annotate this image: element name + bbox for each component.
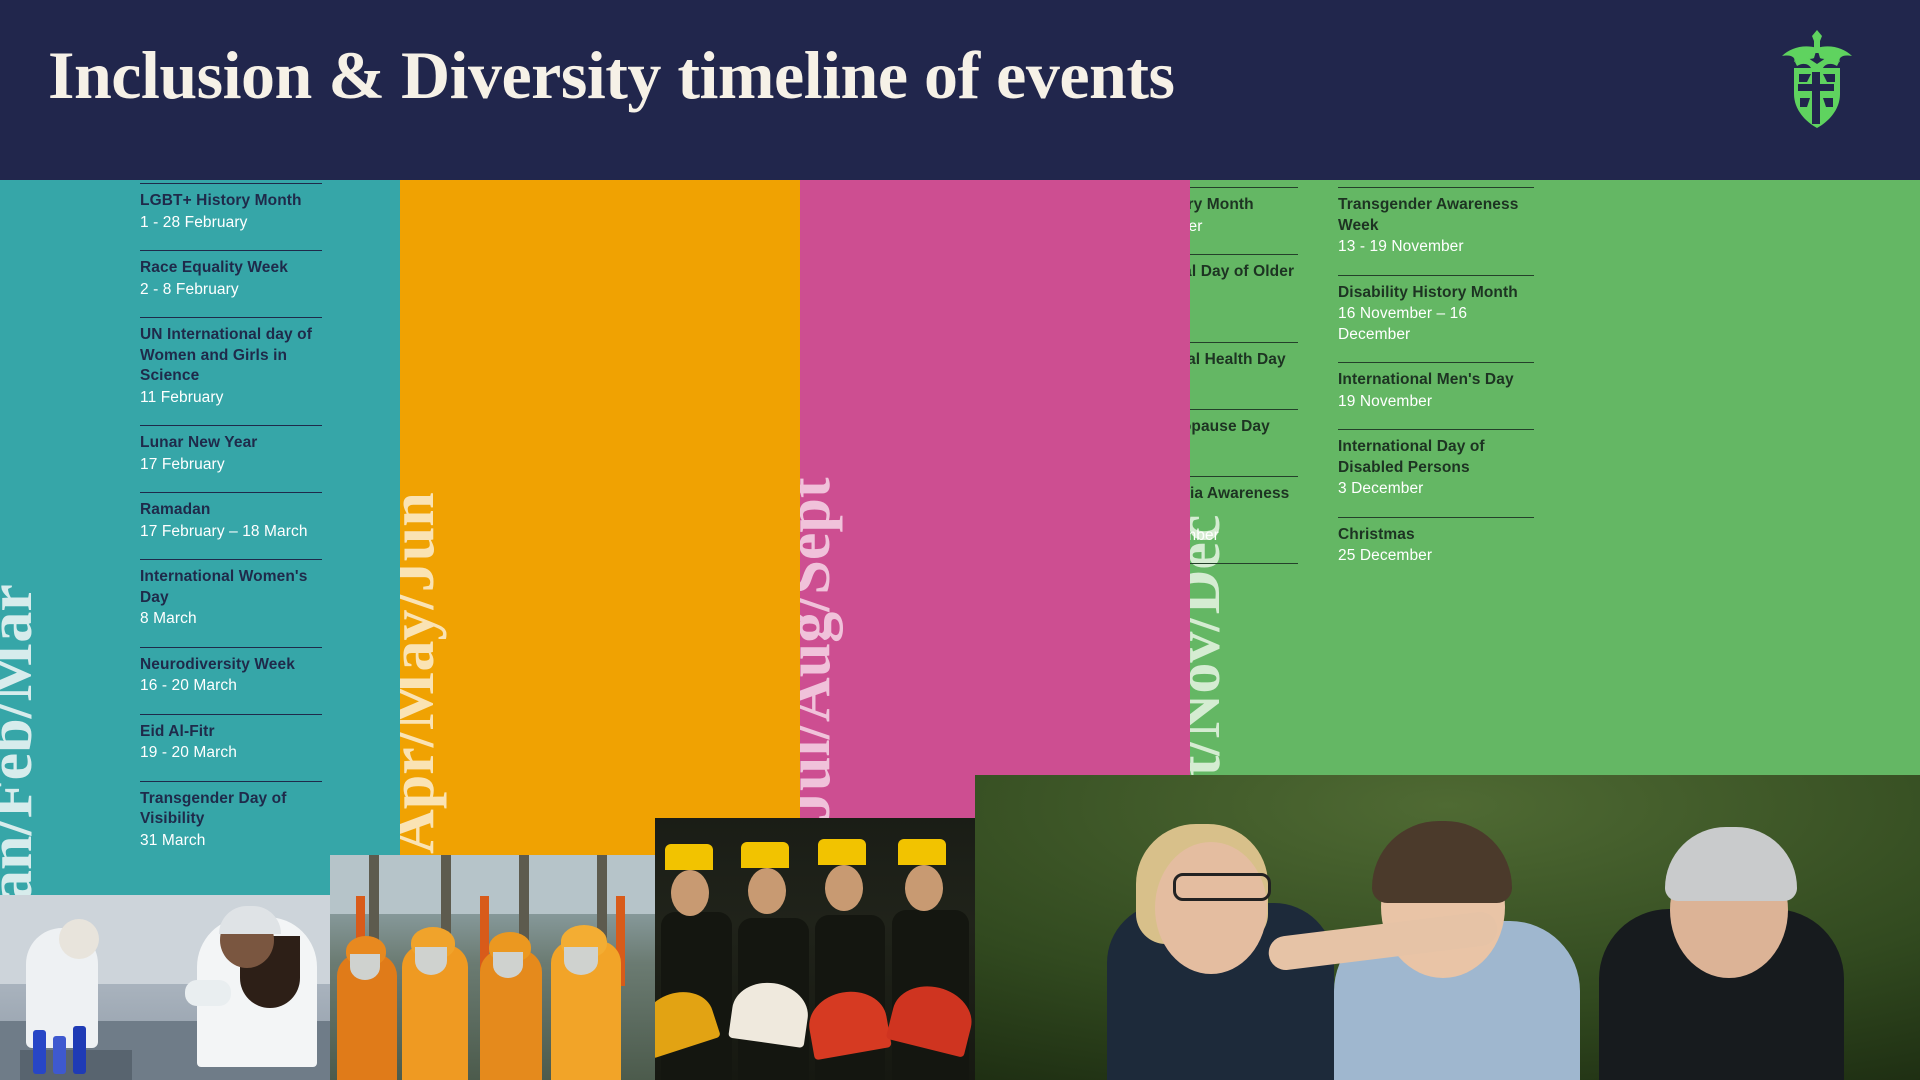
event-date: 10 October — [1190, 371, 1298, 392]
timeline-poster: Inclusion & Diversity timeline of events — [0, 0, 1920, 1080]
event-list-q4-left: Black History Month 1 - 31 October Inter… — [1190, 187, 1298, 613]
event-date: 17 February – 18 March — [140, 522, 322, 543]
event-date: 18 October — [1190, 438, 1298, 459]
divider — [1190, 342, 1298, 343]
quarter-label-q2: Apr/May/Jun — [400, 492, 444, 854]
event-date: 31 March — [140, 831, 322, 852]
event-list-q4-right: Transgender Awareness Week 13 - 19 Novem… — [1338, 187, 1534, 567]
divider — [140, 714, 322, 715]
event-name: International Day of Disabled Persons — [1338, 437, 1534, 478]
event-name: Neurodiversity Week — [140, 655, 322, 676]
event-name: International Women's Day — [140, 567, 322, 608]
divider — [1190, 254, 1298, 255]
divider — [140, 183, 322, 184]
event-name: LGBT+ History Month — [140, 191, 322, 212]
event-name: Transgender Day of Visibility — [140, 789, 322, 830]
divider — [1190, 187, 1298, 188]
heraldic-crest-logo — [1774, 26, 1860, 136]
event-item[interactable]: Lunar New Year 17 February — [140, 425, 322, 475]
divider — [140, 492, 322, 493]
event-date: 2 - 8 February — [140, 280, 322, 301]
event-item[interactable]: International Day of Older People 1 Octo… — [1190, 254, 1298, 325]
divider — [1338, 362, 1534, 363]
photo-q1-laboratory — [0, 895, 330, 1080]
divider — [140, 559, 322, 560]
event-list-q1: LGBT+ History Month 1 - 28 February Race… — [140, 183, 322, 851]
event-name: Disability History Month — [1338, 283, 1534, 304]
divider — [1190, 409, 1298, 410]
event-date: 25 December — [1338, 546, 1534, 567]
event-name: World Mental Health Day — [1190, 350, 1298, 371]
event-date: 19 - 20 March — [140, 743, 322, 764]
event-item[interactable]: World Mental Health Day 10 October — [1190, 342, 1298, 392]
event-date: 19 November — [1338, 392, 1534, 413]
event-date: 16 - 20 March — [140, 676, 322, 697]
event-name: International Men's Day — [1338, 370, 1534, 391]
event-item[interactable]: International Men's Day 19 November — [1338, 362, 1534, 412]
event-item[interactable]: International Day of Disabled Persons 3 … — [1338, 429, 1534, 500]
divider — [140, 425, 322, 426]
divider — [1338, 429, 1534, 430]
event-item[interactable]: Neurodiversity Week 16 - 20 March — [140, 647, 322, 697]
photo-q3-fan-dancers — [655, 818, 975, 1080]
event-item[interactable]: UN International day of Women and Girls … — [140, 317, 322, 408]
event-item[interactable]: Diwali 8 November — [1190, 563, 1298, 613]
event-item[interactable]: International Women's Day 8 March — [140, 559, 322, 630]
event-item[interactable]: Black History Month 1 - 31 October — [1190, 187, 1298, 237]
event-date: 8 November — [1190, 593, 1298, 614]
divider — [140, 250, 322, 251]
event-name: Diwali — [1190, 571, 1298, 592]
event-date: 3 December — [1338, 479, 1534, 500]
page-title: Inclusion & Diversity timeline of events — [48, 36, 1174, 115]
event-date: 17 February — [140, 455, 322, 476]
photo-q2-vaisakhi — [330, 855, 655, 1080]
event-date: 13 - 19 November — [1338, 237, 1534, 258]
event-date: 1 - 28 February — [140, 213, 322, 234]
event-item[interactable]: Islamophobia Awareness Month 1 - 31 Nove… — [1190, 476, 1298, 547]
event-item[interactable]: Christmas 25 December — [1338, 517, 1534, 567]
quarter-label-q3: Jul/Aug/Sept — [800, 477, 840, 822]
divider — [140, 647, 322, 648]
event-name: Race Equality Week — [140, 258, 322, 279]
event-name: Lunar New Year — [140, 433, 322, 454]
event-item[interactable]: Transgender Awareness Week 13 - 19 Novem… — [1338, 187, 1534, 258]
event-name: UN International day of Women and Girls … — [140, 325, 322, 387]
event-date: 16 November – 16 December — [1338, 304, 1534, 345]
event-date: 1 - 31 October — [1190, 217, 1298, 238]
divider — [1190, 476, 1298, 477]
event-date: 1 - 31 November — [1190, 526, 1298, 547]
event-item[interactable]: Disability History Month 16 November – 1… — [1338, 275, 1534, 346]
event-name: Transgender Awareness Week — [1338, 195, 1534, 236]
event-name: International Day of Older People — [1190, 262, 1298, 303]
event-name: Ramadan — [140, 500, 322, 521]
event-date: 1 October — [1190, 304, 1298, 325]
event-date: 8 March — [140, 609, 322, 630]
page-header: Inclusion & Diversity timeline of events — [0, 0, 1920, 180]
divider — [140, 317, 322, 318]
event-item[interactable]: LGBT+ History Month 1 - 28 February — [140, 183, 322, 233]
event-item[interactable]: Eid Al-Fitr 19 - 20 March — [140, 714, 322, 764]
event-item[interactable]: Ramadan 17 February – 18 March — [140, 492, 322, 542]
divider — [1338, 517, 1534, 518]
quarter-label-q1: Jan/Feb/Mar — [0, 584, 42, 932]
event-name: Black History Month — [1190, 195, 1298, 216]
divider — [1338, 187, 1534, 188]
event-name: World Menopause Day — [1190, 417, 1298, 438]
event-item[interactable]: World Menopause Day 18 October — [1190, 409, 1298, 459]
event-name: Eid Al-Fitr — [140, 722, 322, 743]
event-date: 11 February — [140, 388, 322, 409]
event-item[interactable]: Race Equality Week 2 - 8 February — [140, 250, 322, 300]
event-item[interactable]: Transgender Day of Visibility 31 March — [140, 781, 322, 852]
photo-q4-family — [975, 775, 1920, 1080]
event-name: Christmas — [1338, 525, 1534, 546]
divider — [1338, 275, 1534, 276]
divider — [140, 781, 322, 782]
divider — [1190, 563, 1298, 564]
event-name: Islamophobia Awareness Month — [1190, 484, 1298, 525]
